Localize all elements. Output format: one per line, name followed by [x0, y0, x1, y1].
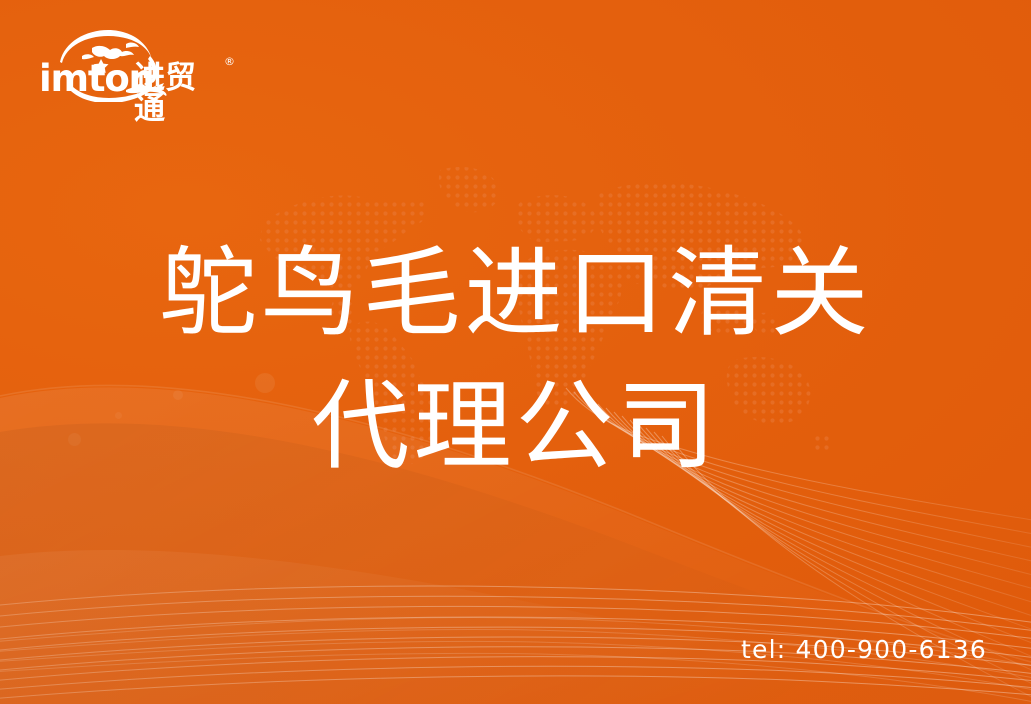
headline-line-1: 鸵鸟毛进口清关 — [0, 228, 1031, 361]
poster-canvas: imton 进贸通 ® 鸵鸟毛进口清关 代理公司 tel: 400-900-61… — [0, 0, 1031, 704]
headline-line-2: 代理公司 — [0, 361, 1031, 494]
registered-trademark-icon: ® — [224, 56, 235, 67]
page-title: 鸵鸟毛进口清关 代理公司 — [0, 228, 1031, 494]
brand-logo[interactable]: imton 进贸通 ® — [38, 26, 214, 102]
logo-chinese-text: 进贸通 — [134, 63, 214, 125]
telephone-label[interactable]: tel: 400-900-6136 — [741, 636, 987, 664]
